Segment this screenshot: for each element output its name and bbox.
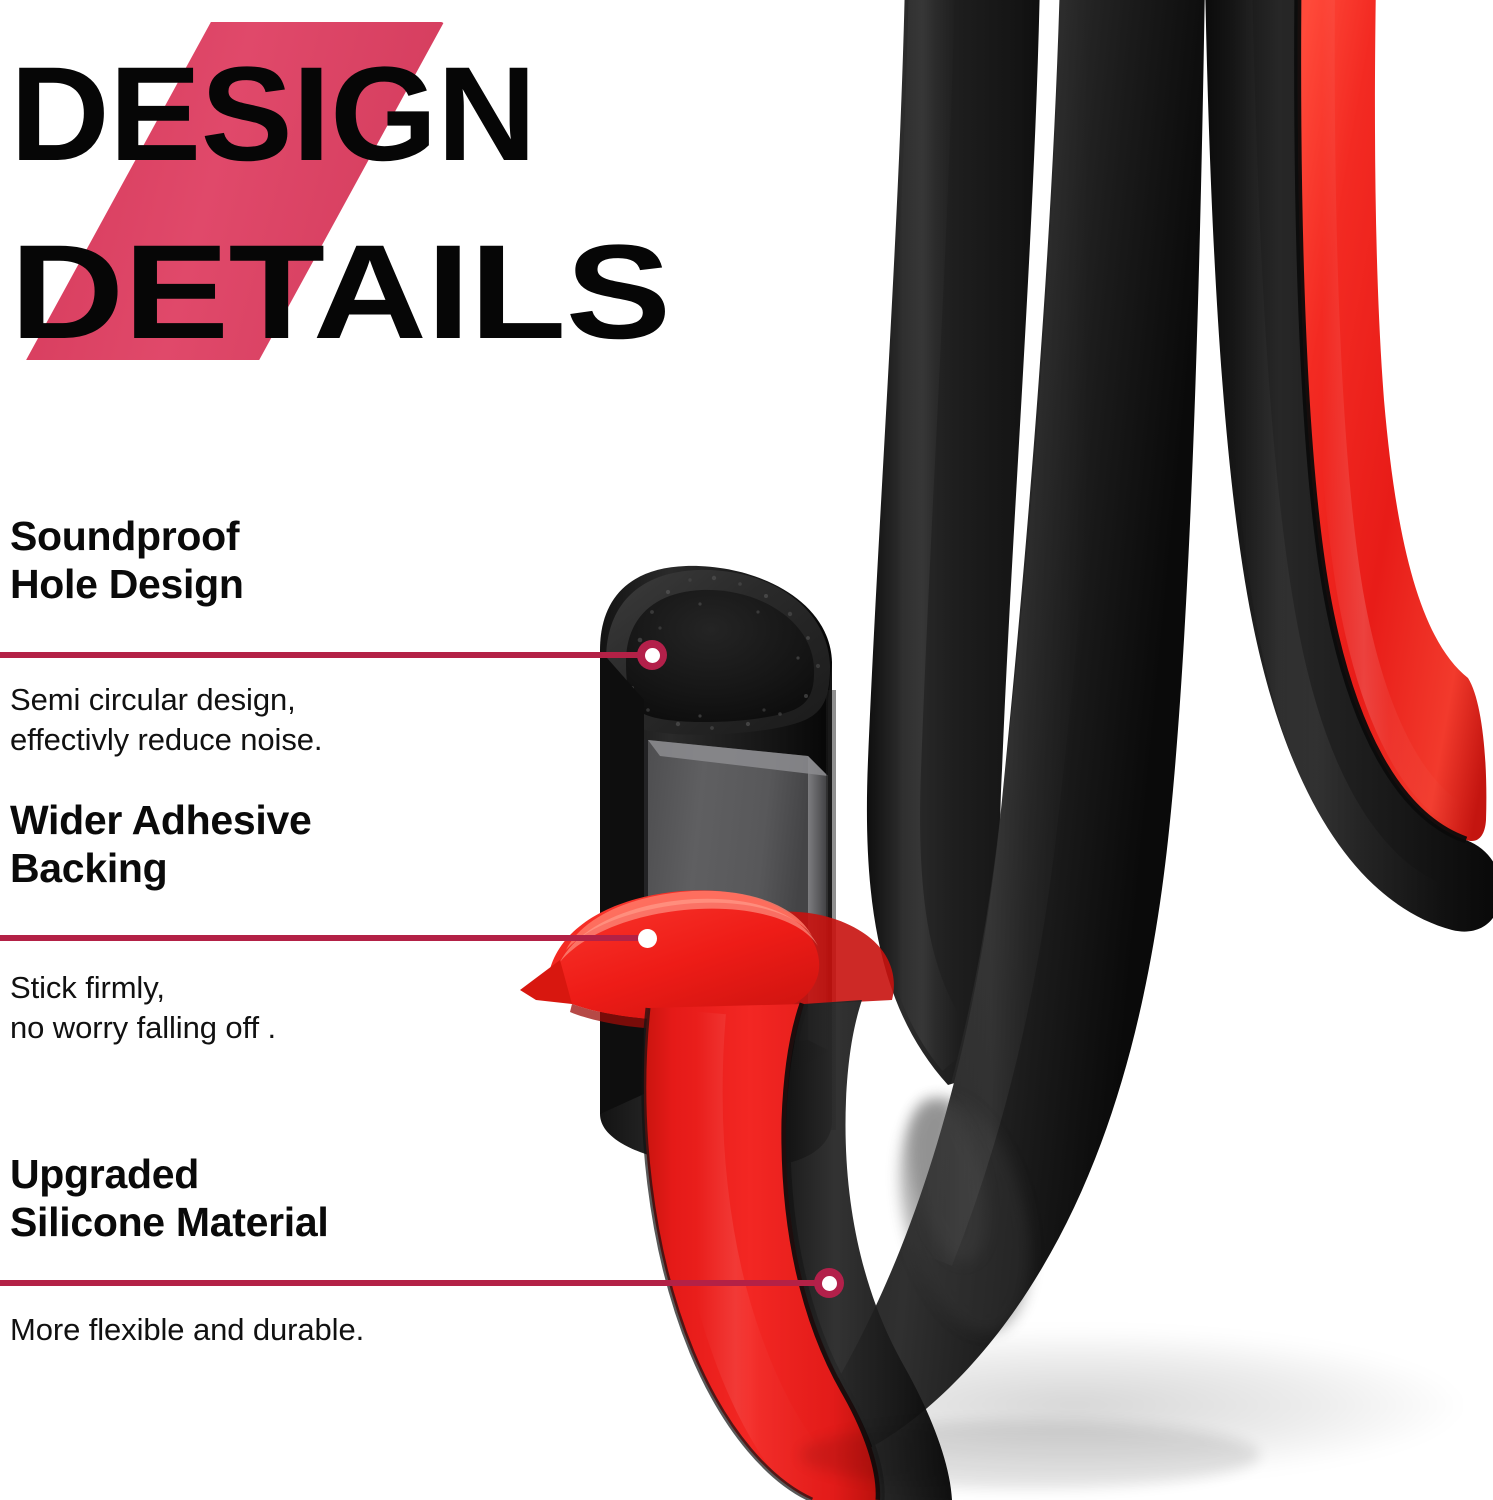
leader-dot-3 [814,1268,844,1298]
title-line-details: DETAILS [10,226,883,360]
leader-line-1 [0,652,655,658]
title-line-design: DESIGN [10,48,772,182]
feature-heading: Upgraded Silicone Material [10,1150,328,1247]
feature-heading: Wider Adhesive Backing [10,796,312,893]
leader-line-3 [0,1280,830,1286]
feature-silicone-body: More flexible and durable. [10,1297,364,1350]
page-title: DESIGN DETAILS [10,48,750,360]
feature-body: Semi circular design, effectivly reduce … [10,680,322,761]
strip-strand-main-bend [795,0,1205,1468]
bend-contact-shadow [800,1421,1260,1489]
feature-body: Stick firmly, no worry falling off . [10,968,276,1049]
feature-upgraded-silicone-material: Upgraded Silicone Material [10,1150,328,1247]
leader-dot-2 [632,923,662,953]
leader-line-2 [0,935,648,941]
adhesive-tape-peel-flap [520,890,894,1030]
feature-soundproof-hole-design: Soundproof Hole Design [10,512,244,609]
infographic-page: DESIGN DETAILS Soundproof Hole Design Se… [0,0,1493,1500]
strip-rubber-behind-tape [786,1000,952,1500]
feature-heading: Soundproof Hole Design [10,512,244,609]
header: DESIGN DETAILS [0,0,760,380]
strip-strand-back-left [867,0,1062,1085]
feature-adhesive-body: Stick firmly, no worry falling off . [10,955,276,1049]
leader-dot-1 [637,640,667,670]
feature-soundproof-body: Semi circular design, effectivly reduce … [10,667,322,761]
ground-shadow [760,1330,1460,1480]
strip-loop-right [1205,0,1493,932]
adhesive-tape-vertical-run [644,1004,880,1500]
feature-wider-adhesive-backing: Wider Adhesive Backing [10,796,312,893]
feature-body: More flexible and durable. [10,1310,364,1350]
adhesive-tape-right-loop [1298,0,1487,841]
